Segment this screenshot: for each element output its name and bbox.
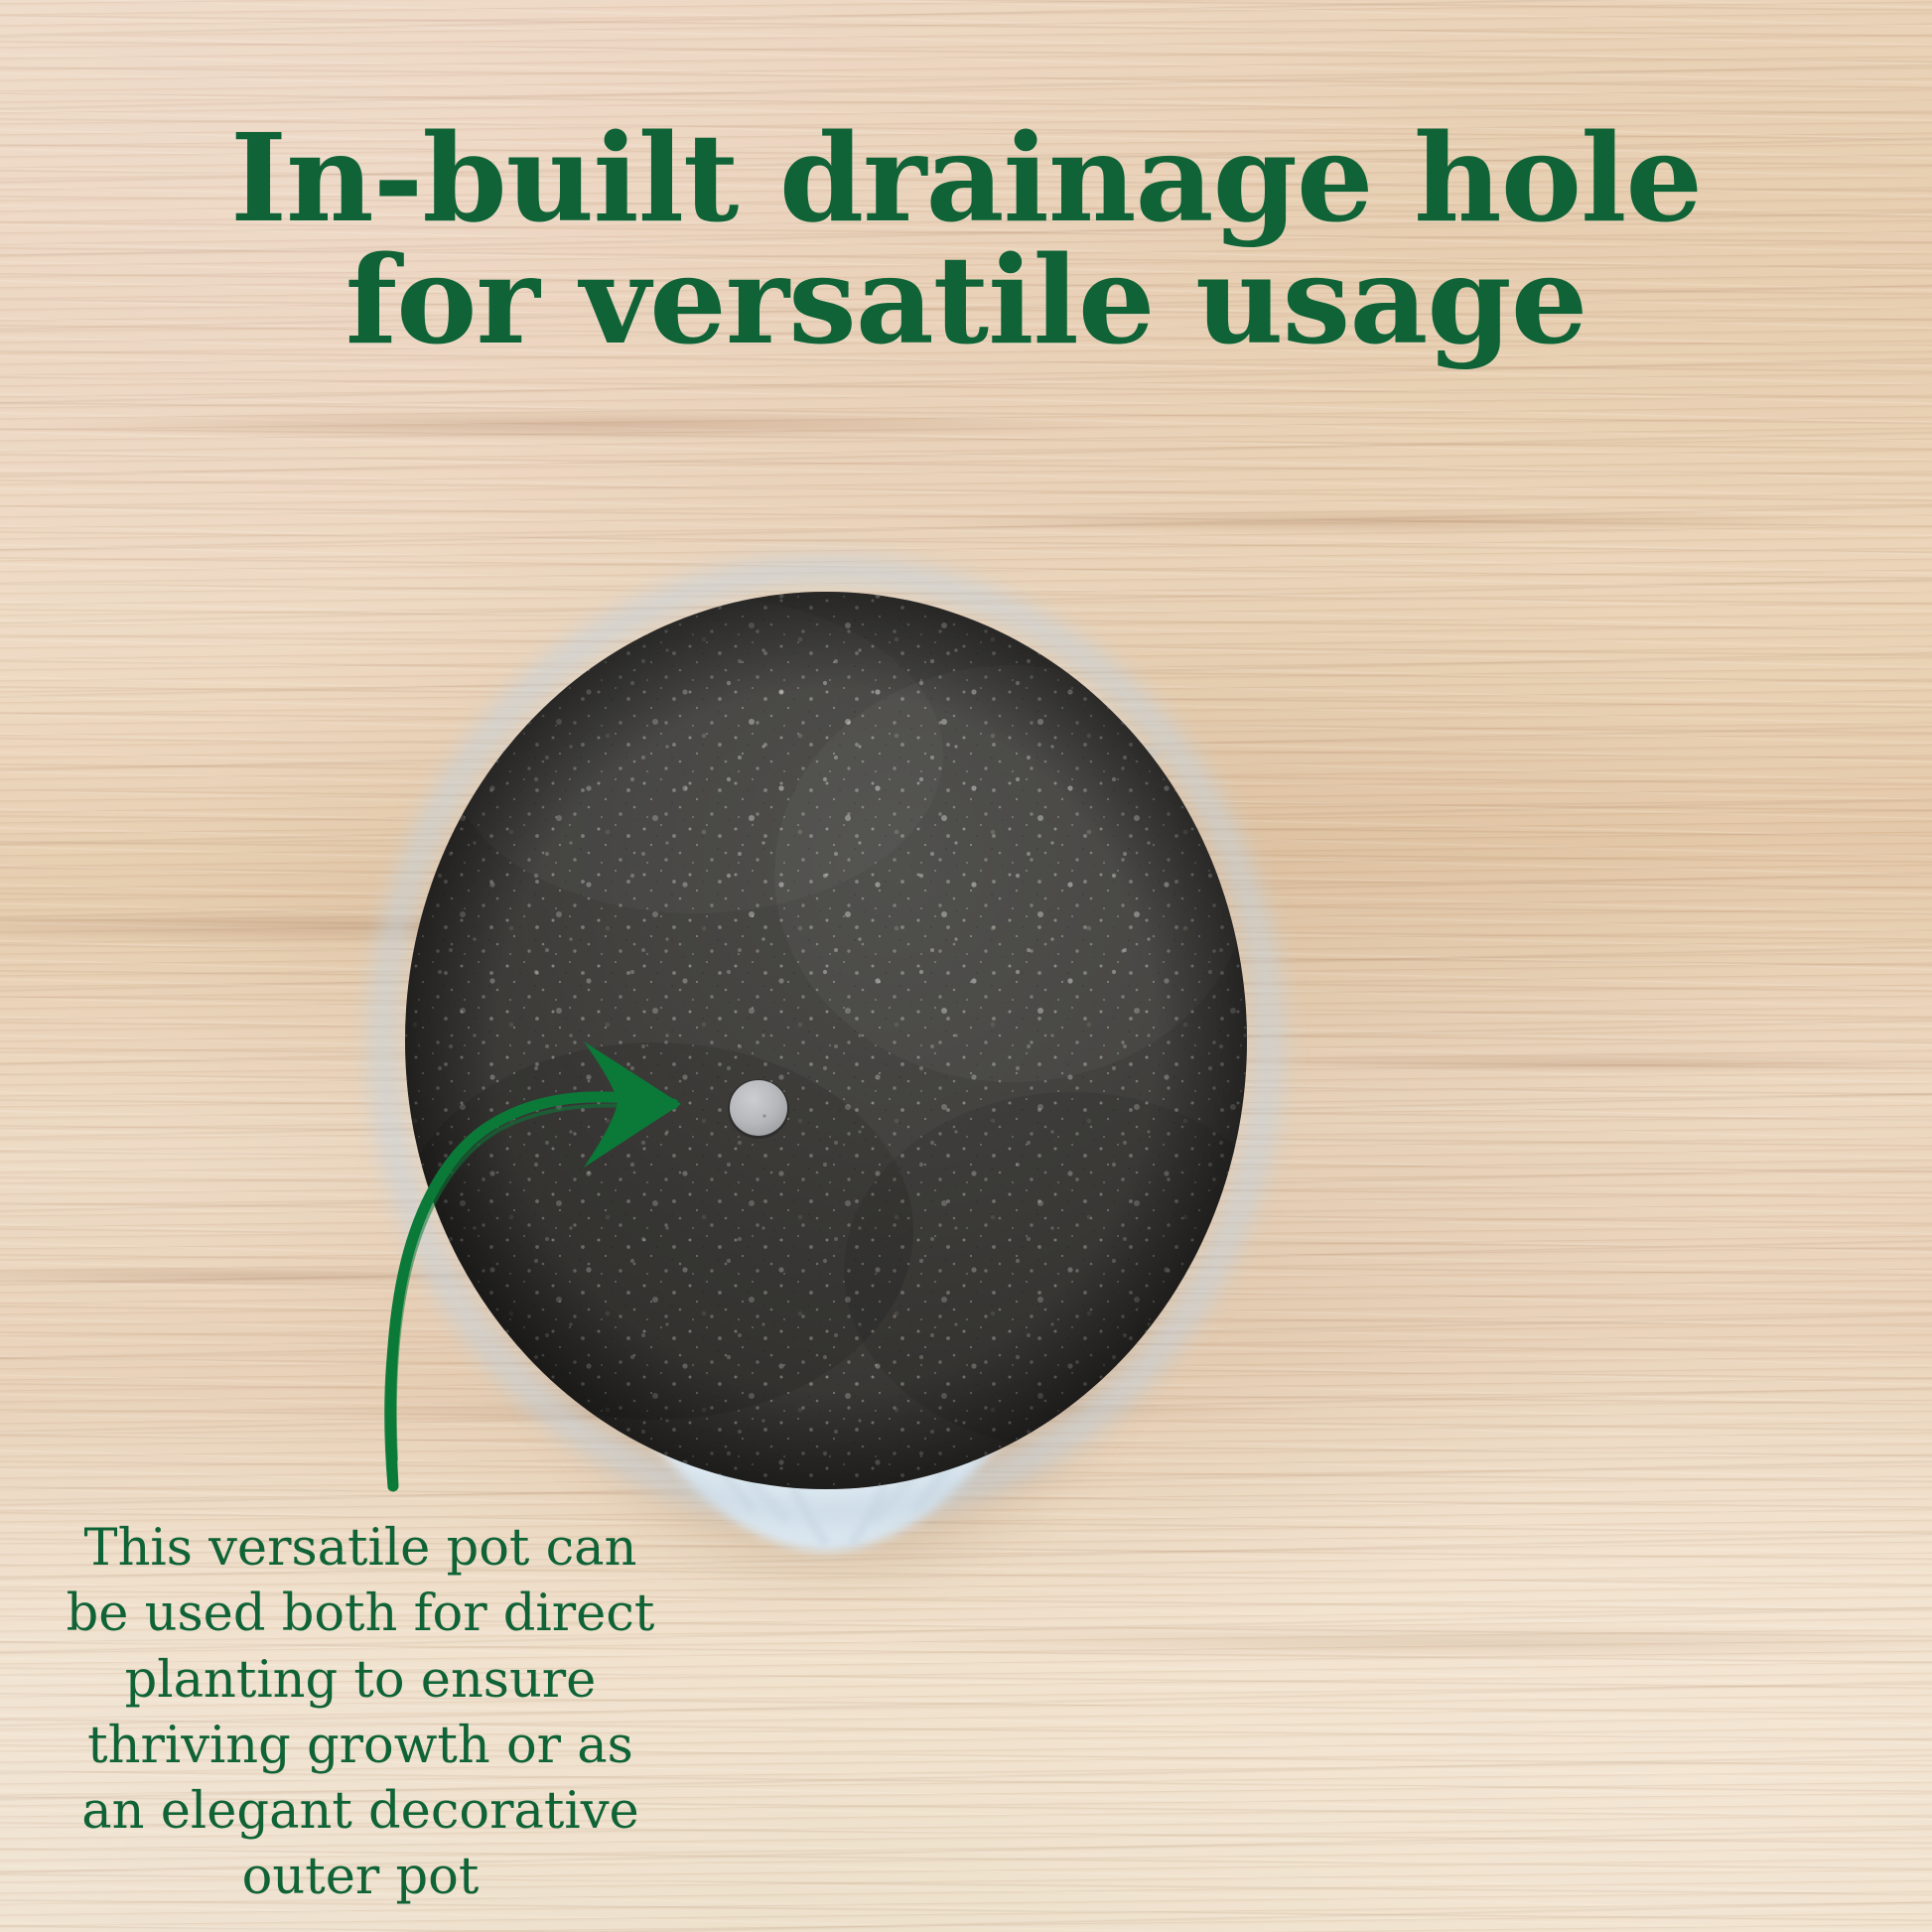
pot-drop-shadow bbox=[467, 625, 1191, 1569]
caption-text: This versatile pot can be used both for … bbox=[58, 1516, 663, 1911]
infographic-canvas: In-built drainage hole for versatile usa… bbox=[0, 0, 1932, 1932]
page-title: In-built drainage hole for versatile usa… bbox=[0, 117, 1932, 361]
